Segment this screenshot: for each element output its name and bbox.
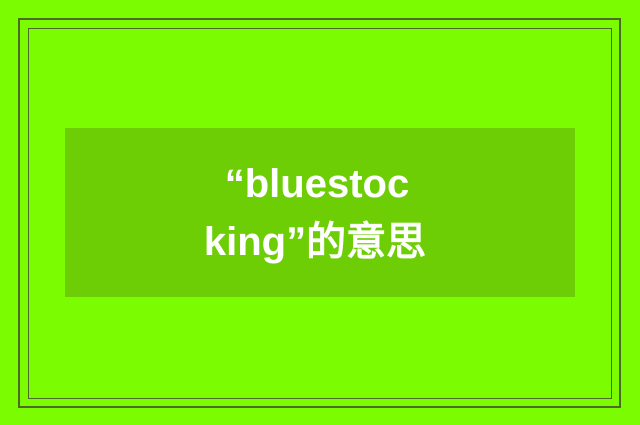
title-plate: “bluestoc king”的意思: [65, 128, 575, 297]
title-line-1: “bluestoc: [225, 155, 409, 213]
title-line-2: king”的意思: [204, 213, 426, 271]
poster-canvas: “bluestoc king”的意思: [0, 0, 640, 425]
